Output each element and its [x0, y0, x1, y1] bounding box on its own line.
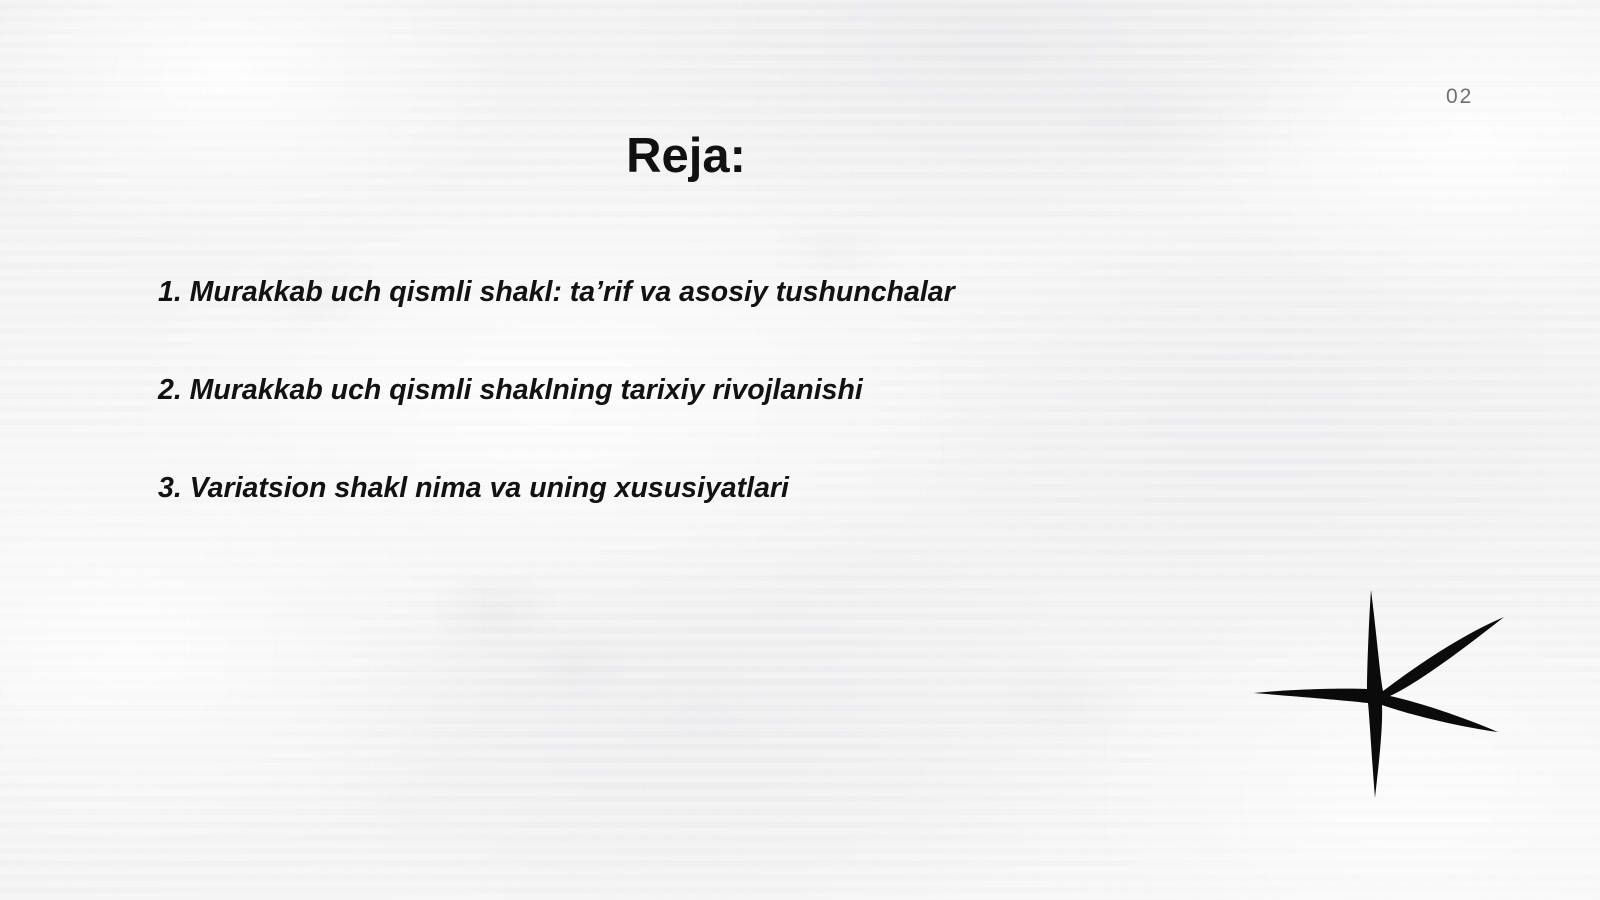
- agenda-list: 1. Murakkab uch qismli shakl: ta’rif va …: [158, 275, 1308, 506]
- sparkle-star-icon: [1242, 572, 1542, 812]
- page-number: 02: [1446, 86, 1473, 107]
- list-item: 2. Murakkab uch qismli shaklning tarixiy…: [158, 373, 1308, 407]
- list-item: 3. Variatsion shakl nima va uning xususi…: [158, 471, 1308, 505]
- page-title: Reja:: [0, 130, 1372, 184]
- sparkle-star-shape: [1254, 590, 1504, 798]
- slide-canvas: 02 Reja: 1. Murakkab uch qismli shakl: t…: [0, 0, 1600, 900]
- list-item: 1. Murakkab uch qismli shakl: ta’rif va …: [158, 275, 1308, 309]
